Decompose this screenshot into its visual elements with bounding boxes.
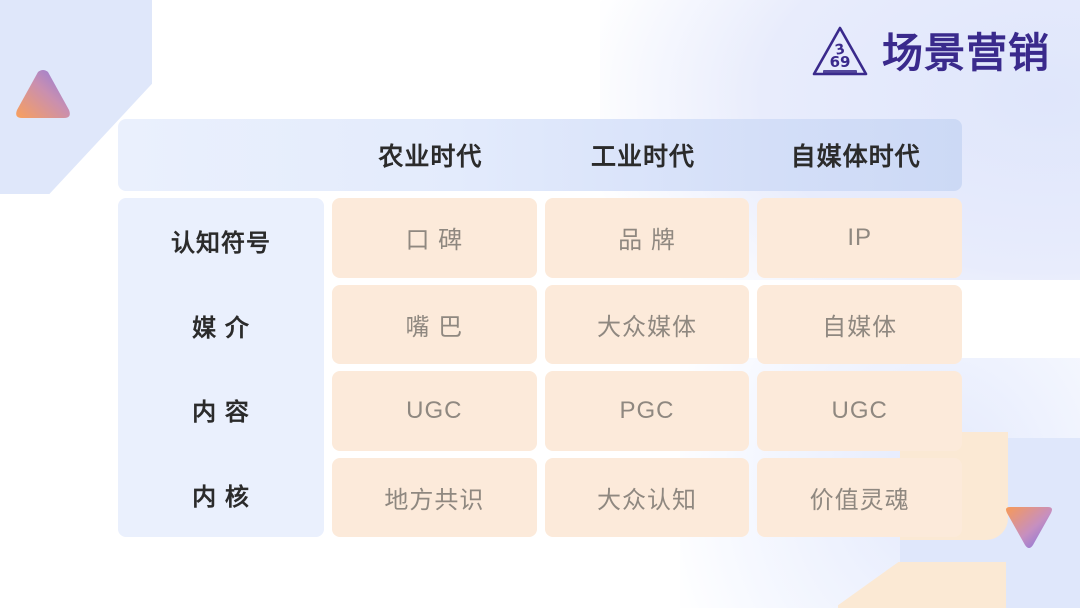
svg-text:69: 69 bbox=[830, 53, 851, 71]
table-cell: 品 牌 bbox=[545, 198, 750, 278]
table-cell: PGC bbox=[545, 371, 750, 451]
table-cell: UGC bbox=[332, 371, 537, 451]
table-cell: 大众媒体 bbox=[545, 285, 750, 365]
table-body: 认知符号 媒 介 内 容 内 核 口 碑 品 牌 IP 嘴 巴 大众媒体 自媒体… bbox=[118, 198, 962, 537]
table-row-label-1: 认知符号 bbox=[118, 198, 324, 283]
table-cell: 嘴 巴 bbox=[332, 285, 537, 365]
table-cell: 大众认知 bbox=[545, 458, 750, 538]
gradient-triangle-up-icon bbox=[14, 68, 72, 120]
comparison-table: 农业时代 工业时代 自媒体时代 认知符号 媒 介 内 容 内 核 口 碑 品 牌… bbox=[118, 119, 962, 537]
table-row-label-2: 媒 介 bbox=[118, 283, 324, 368]
table-cell: 口 碑 bbox=[332, 198, 537, 278]
table-cell: 地方共识 bbox=[332, 458, 537, 538]
peach-block-decoration-lower bbox=[838, 562, 1006, 608]
table-header-col-3: 自媒体时代 bbox=[749, 119, 962, 191]
table-cell: UGC bbox=[757, 371, 962, 451]
table-header-col-2: 工业时代 bbox=[537, 119, 750, 191]
table-header-row: 农业时代 工业时代 自媒体时代 bbox=[118, 119, 962, 191]
table-row: 地方共识 大众认知 价值灵魂 bbox=[332, 458, 962, 538]
scene-marketing-triangle-logo-icon: 3 69 bbox=[811, 24, 869, 82]
table-header-corner bbox=[118, 119, 324, 191]
table-cell: 自媒体 bbox=[757, 285, 962, 365]
brand-wordmark: 场景营销 bbox=[882, 33, 1050, 74]
table-cell: 价值灵魂 bbox=[757, 458, 962, 538]
brand-logo: 3 69 场景营销 bbox=[811, 24, 1050, 82]
table-row: 口 碑 品 牌 IP bbox=[332, 198, 962, 278]
table-row-label-4: 内 核 bbox=[118, 452, 324, 537]
table-row-label-3: 内 容 bbox=[118, 368, 324, 453]
table-row: 嘴 巴 大众媒体 自媒体 bbox=[332, 285, 962, 365]
table-row-label-column: 认知符号 媒 介 内 容 内 核 bbox=[118, 198, 324, 537]
table-cell-grid: 口 碑 品 牌 IP 嘴 巴 大众媒体 自媒体 UGC PGC UGC 地方共识… bbox=[332, 198, 962, 537]
gradient-triangle-down-icon bbox=[1004, 506, 1054, 550]
slide-canvas: 3 69 场景营销 农业时代 工业时代 自媒体时代 认知符号 媒 介 内 容 内… bbox=[0, 0, 1080, 608]
table-row: UGC PGC UGC bbox=[332, 371, 962, 451]
table-cell: IP bbox=[757, 198, 962, 278]
table-header-col-1: 农业时代 bbox=[324, 119, 537, 191]
